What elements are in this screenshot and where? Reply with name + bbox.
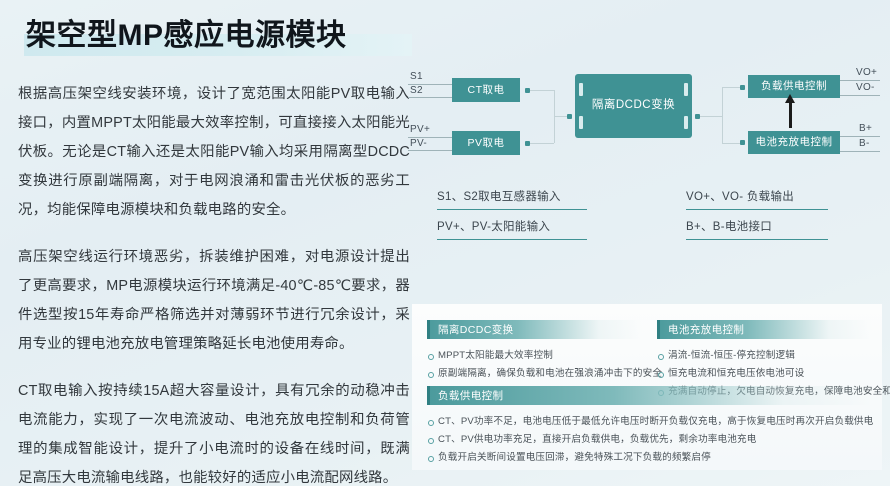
feature-bullet-list: CT、PV功率不足，电池电压低于最低允许电压时断开负载仅充电，高于恢复电压时再次… [427,413,872,467]
wire-bus-to-battery [722,143,742,144]
feature-bullet: CT、PV供电功率充足，直接开启负载供电，负载优先，剩余功率电池充电 [427,431,872,449]
lead-line-b-plus [840,136,880,137]
wire-dcdc-to-bus [700,116,722,117]
block-ct-input: CT取电 [452,78,520,102]
terminal-label-vo-plus: VO+ [856,67,877,78]
block-pv-input: PV取电 [452,131,520,155]
feature-card-header: 电池充放电控制 [657,320,872,339]
legend-item: S1、S2取电互感器输入 [437,188,587,210]
chip-notch-icon [684,116,688,129]
terminal-label-pv-minus: PV- [410,138,427,149]
legend-item: VO+、VO- 负载输出 [686,188,828,210]
feature-card-isolated-dcdc: 隔离DCDC变换 MPPT太阳能最大效率控制 原副端隔离，确保负载和电池在强浪涌… [427,320,642,383]
wire-pv-to-bus [530,143,554,144]
wire-right-bus [722,87,723,143]
block-battery-charge-control: 电池充放电控制 [748,131,840,154]
lead-line-b-minus [840,151,880,152]
feature-card-title: 隔离DCDC变换 [438,322,514,337]
lead-line-pv-minus [408,150,452,151]
description-paragraph: CT取电输入按持续15A超大容量设计，具有冗余的动稳冲击电流能力，实现了一次电流… [18,377,410,486]
chip-notch-icon [579,116,583,129]
terminal-label-pv-plus: PV+ [410,124,430,135]
lead-line-vo-plus [840,80,880,81]
legend-item: PV+、PV-太阳能输入 [437,218,587,240]
description-paragraph: 高压架空线运行环境恶劣，拆装维护困难，对电源设计提出了更高要求，MP电源模块运行… [18,243,410,359]
description-paragraph: 根据高压架空线安装环境，设计了宽范围太阳能PV取电输入接口，内置MPPT太阳能最… [18,80,410,225]
feature-bullet: 涓流-恒流-恒压-停充控制逻辑 [657,347,872,365]
node-dcdc-input [567,114,572,119]
wire-ct-to-bus [530,90,554,91]
feature-card-header: 负载供电控制 [427,386,872,405]
feature-card-title: 电池充放电控制 [668,322,744,337]
block-diagram: S1 S2 PV+ PV- CT取电 PV取电 隔离DCDC变换 负载供电控制 … [404,62,882,182]
feature-card-header: 隔离DCDC变换 [427,320,642,339]
terminal-label-s1: S1 [410,71,423,82]
block-isolated-dcdc: 隔离DCDC变换 [575,74,692,138]
terminal-label-b-plus: B+ [859,123,872,134]
legend-item: B+、B-电池接口 [686,218,828,240]
wire-bus-to-load [722,87,742,88]
feature-bullet: 负载开启关断间设置电压回滞，避免特殊工况下负载的频繁启停 [427,449,872,467]
feature-bullet: 原副端隔离，确保负载和电池在强浪涌冲击下的安全 [427,365,642,383]
lead-line-vo-minus [840,95,880,96]
page-title: 架空型MP感应电源模块 [26,14,347,58]
terminal-label-vo-minus: VO- [856,82,875,93]
terminal-label-s2: S2 [410,85,423,96]
feature-bullet: 恒充电流和恒充电压依电池可设 [657,365,872,383]
lead-line-s2 [408,97,452,98]
chip-notch-icon [579,83,583,96]
chip-notch-icon [684,83,688,96]
page-header: 架空型MP感应电源模块 [26,14,347,58]
feature-panel: 隔离DCDC变换 MPPT太阳能最大效率控制 原副端隔离，确保负载和电池在强浪涌… [412,304,882,470]
feature-card-load-control: 负载供电控制 CT、PV功率不足，电池电压低于最低允许电压时断开负载仅充电，高于… [427,386,872,467]
feature-card-title: 负载供电控制 [438,388,503,403]
feature-bullet: CT、PV功率不足，电池电压低于最低允许电压时断开负载仅充电，高于恢复电压时再次… [427,413,872,431]
feature-bullet: MPPT太阳能最大效率控制 [427,347,642,365]
up-arrow-icon [789,102,792,128]
feature-bullet-list: MPPT太阳能最大效率控制 原副端隔离，确保负载和电池在强浪涌冲击下的安全 [427,347,642,383]
node-battery-input [740,140,745,145]
description-column: 根据高压架空线安装环境，设计了宽范围太阳能PV取电输入接口，内置MPPT太阳能最… [18,80,410,486]
node-load-input [740,85,745,90]
terminal-label-b-minus: B- [859,138,870,149]
